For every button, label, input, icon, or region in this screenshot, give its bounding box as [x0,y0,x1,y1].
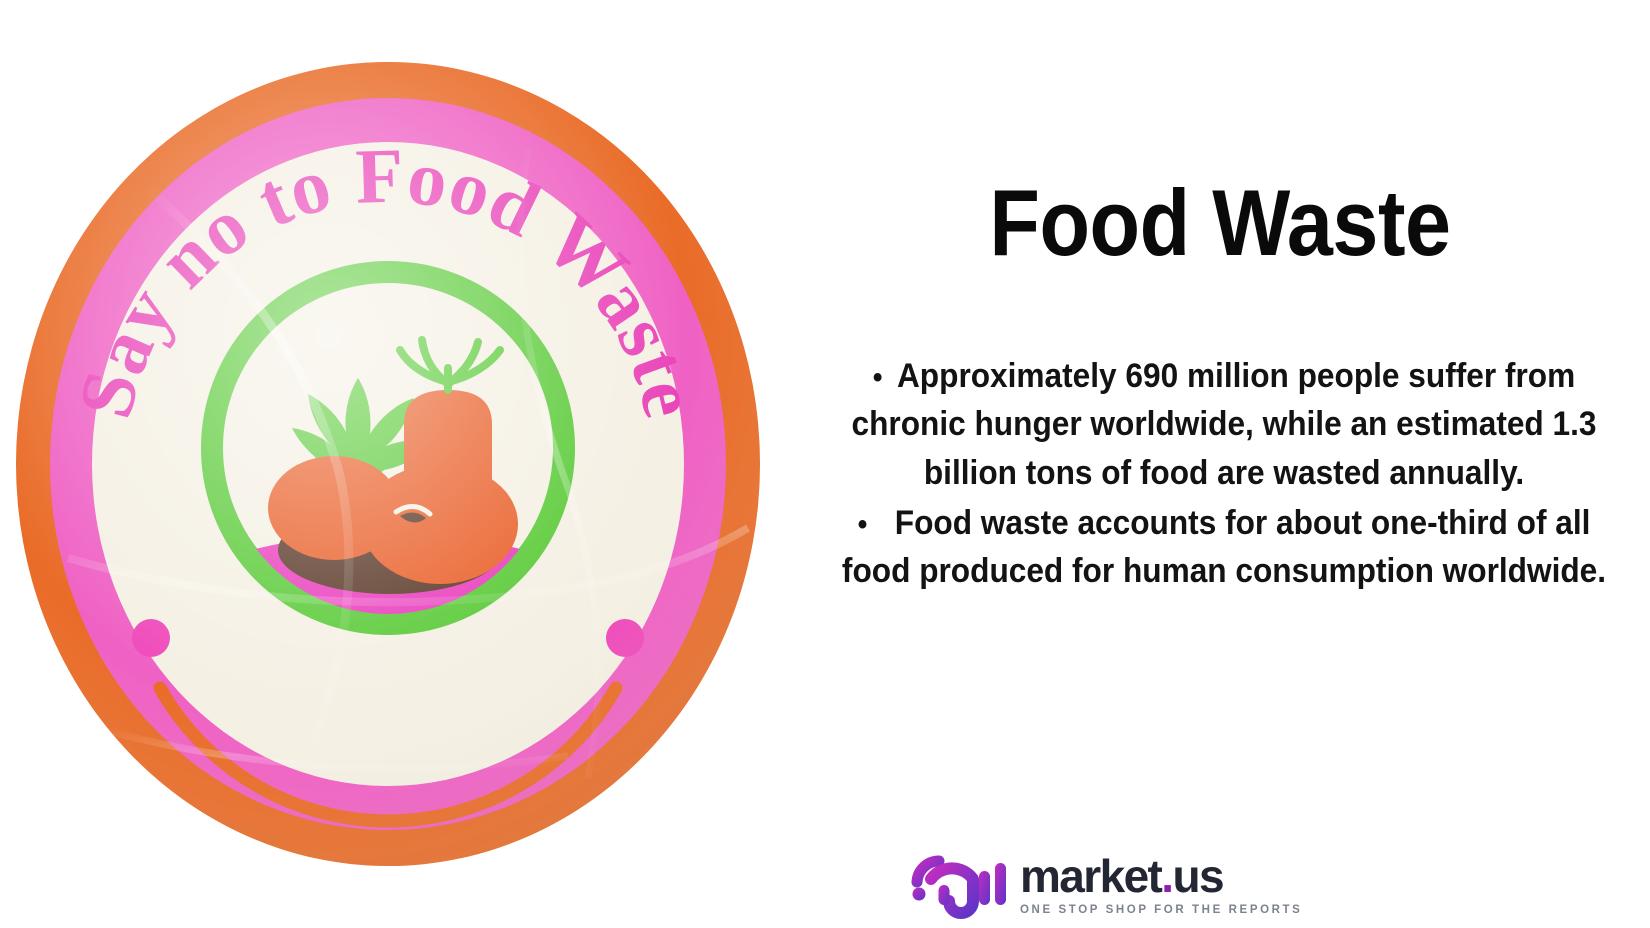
logo-text-column: market.us ONE STOP SHOP FOR THE REPORTS [1020,852,1302,915]
bullet-marker-icon: • [858,504,895,547]
bullet-list: •Approximately 690 million people suffer… [833,352,1614,597]
logo-word-market: market [1020,850,1161,902]
logo-word-us: us [1172,850,1222,902]
logo-wordmark: market.us [1020,854,1302,899]
market-us-logo-icon [910,849,1006,919]
list-item: •Food waste accounts for about one-third… [833,499,1614,596]
badge-graphic: Say no to Food Waste [8,38,768,890]
food-waste-badge: Say no to Food Waste [8,38,768,890]
bullet-marker-icon: • [873,357,897,400]
paper-texture [16,62,760,866]
page-title: Food Waste [842,176,1599,270]
market-us-logo[interactable]: market.us ONE STOP SHOP FOR THE REPORTS [910,845,1340,923]
list-item: •Approximately 690 million people suffer… [833,352,1614,497]
logo-tagline: ONE STOP SHOP FOR THE REPORTS [1020,904,1302,916]
list-item-text: Approximately 690 million people suffer … [852,357,1597,492]
list-item-text: Food waste accounts for about one-third … [842,504,1606,590]
content-panel: Food Waste •Approximately 690 million pe… [790,0,1650,928]
logo-word-dot: . [1161,850,1172,902]
infographic-canvas: Say no to Food Waste [0,0,1650,928]
